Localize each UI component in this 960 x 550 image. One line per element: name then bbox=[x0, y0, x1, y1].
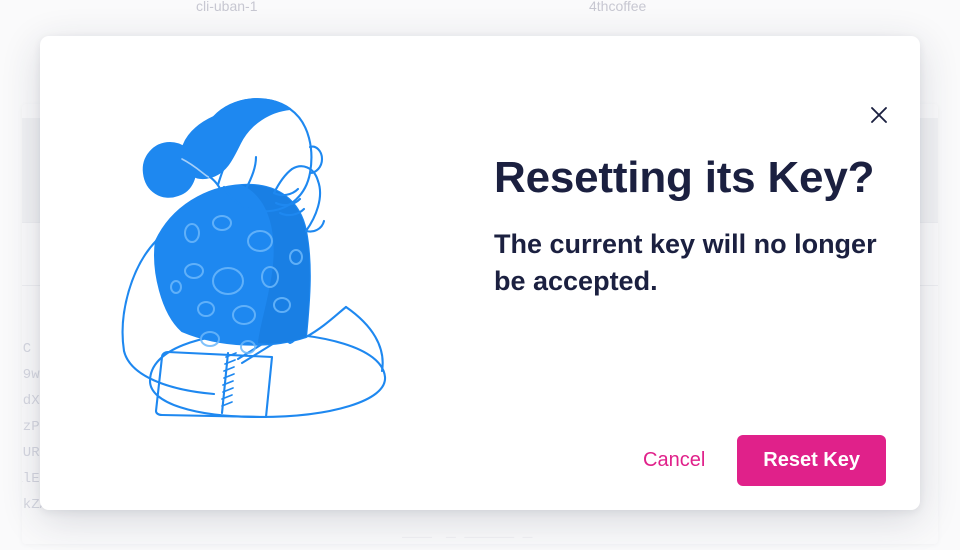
cancel-button[interactable]: Cancel bbox=[629, 439, 719, 482]
modal-message: The current key will no longer be accept… bbox=[494, 226, 880, 298]
reset-key-button[interactable]: Reset Key bbox=[737, 435, 886, 486]
modal-copy: Resetting its Key? The current key will … bbox=[460, 36, 920, 299]
thinking-person-illustration bbox=[40, 36, 460, 426]
close-icon[interactable] bbox=[862, 98, 896, 132]
modal-actions: Cancel Reset Key bbox=[629, 435, 886, 486]
modal-title: Resetting its Key? bbox=[494, 154, 880, 202]
reset-key-modal: Resetting its Key? The current key will … bbox=[40, 36, 920, 510]
